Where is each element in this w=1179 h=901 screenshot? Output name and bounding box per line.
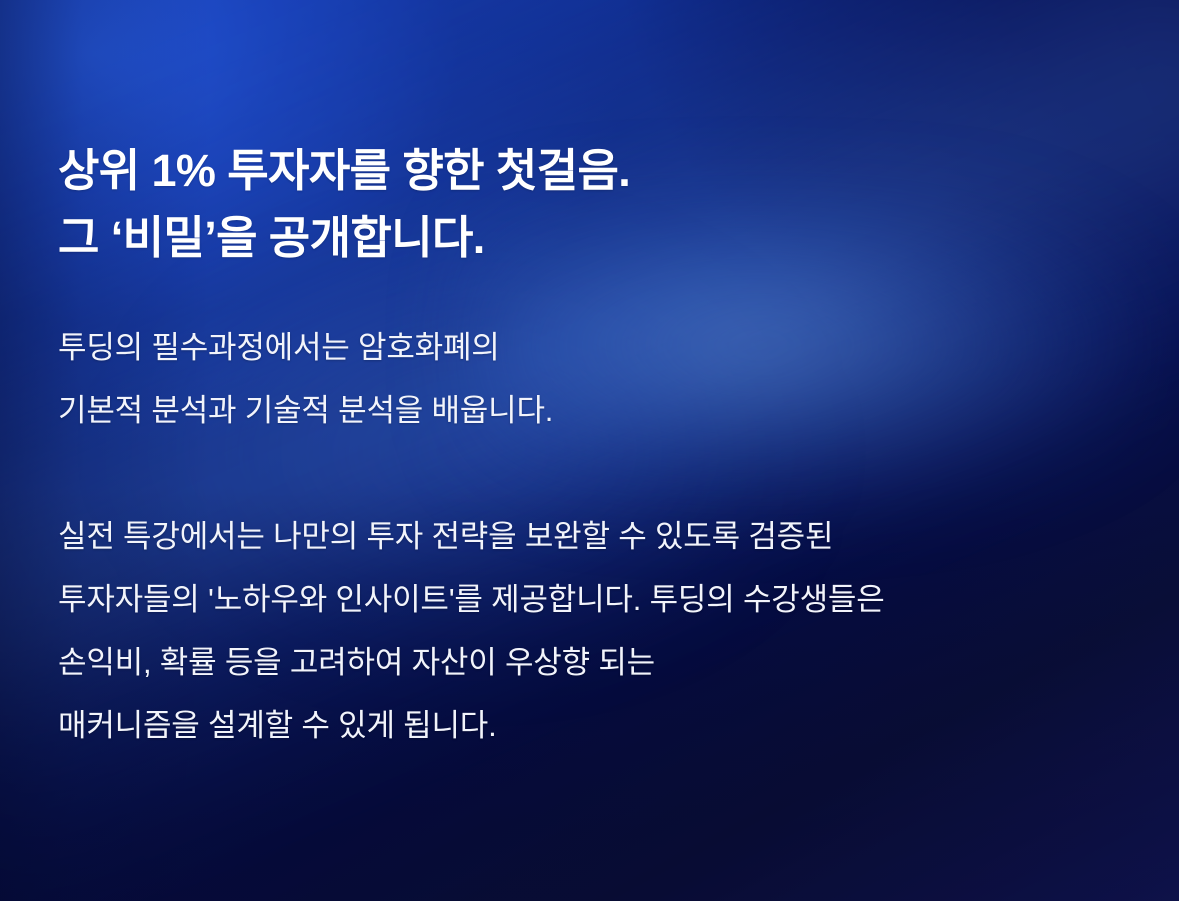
banner-paragraph-primary: 투딩의 필수과정에서는 암호화폐의 기본적 분석과 기술적 분석을 배웁니다.: [58, 316, 553, 442]
promo-banner: 상위 1% 투자자를 향한 첫걸음. 그 ‘비밀’을 공개합니다. 투딩의 필수…: [0, 0, 1179, 901]
banner-paragraph-secondary: 실전 특강에서는 나만의 투자 전략을 보완할 수 있도록 검증된 투자자들의 …: [58, 505, 885, 757]
banner-headline: 상위 1% 투자자를 향한 첫걸음. 그 ‘비밀’을 공개합니다.: [58, 137, 630, 271]
banner-content: 상위 1% 투자자를 향한 첫걸음. 그 ‘비밀’을 공개합니다. 투딩의 필수…: [58, 0, 1179, 901]
